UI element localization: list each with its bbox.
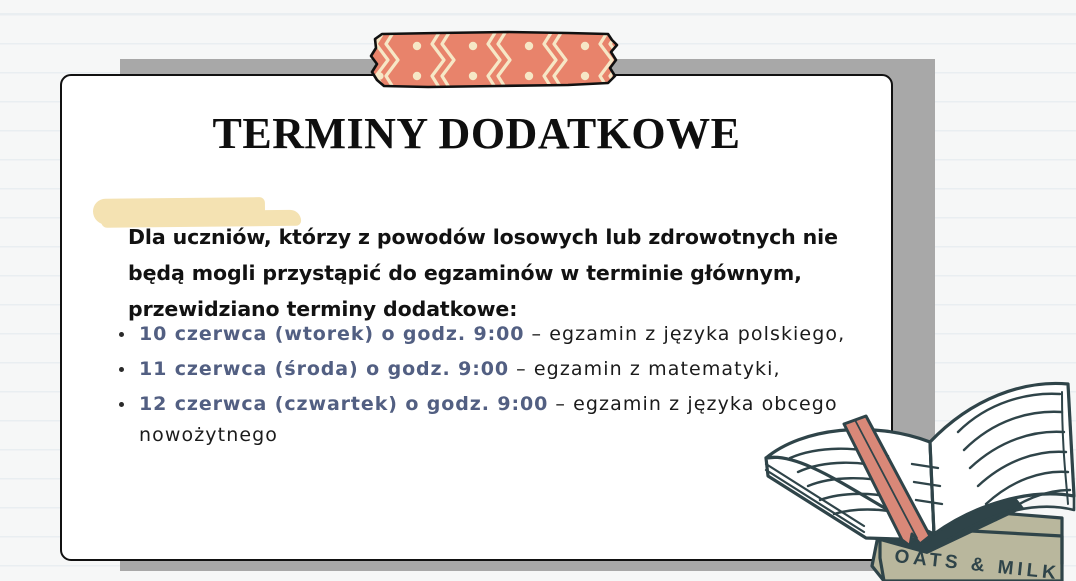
exam-subject-1: – egzamin z matematyki, xyxy=(509,358,781,380)
list-item: 11 czerwca (środa) o godz. 9:00 – egzami… xyxy=(115,354,875,385)
exam-subject-0: – egzamin z języka polskiego, xyxy=(524,323,845,345)
washi-tape-icon xyxy=(368,28,620,92)
list-item: 12 czerwca (czwartek) o godz. 9:00 – egz… xyxy=(115,389,875,451)
card-content: TERMINY DODATKOWE Dla uczniów, którzy z … xyxy=(60,74,893,561)
poster-canvas: TERMINY DODATKOWE Dla uczniów, którzy z … xyxy=(0,0,1076,581)
dates-list: 10 czerwca (wtorek) o godz. 9:00 – egzam… xyxy=(115,319,875,455)
page-title: TERMINY DODATKOWE xyxy=(60,112,893,156)
list-item: 10 czerwca (wtorek) o godz. 9:00 – egzam… xyxy=(115,319,875,350)
exam-date-0: 10 czerwca (wtorek) o godz. 9:00 xyxy=(139,323,524,345)
intro-paragraph: Dla uczniów, którzy z powodów losowych l… xyxy=(128,219,858,327)
exam-date-1: 11 czerwca (środa) o godz. 9:00 xyxy=(139,358,509,380)
exam-date-2: 12 czerwca (czwartek) o godz. 9:00 xyxy=(139,393,548,415)
